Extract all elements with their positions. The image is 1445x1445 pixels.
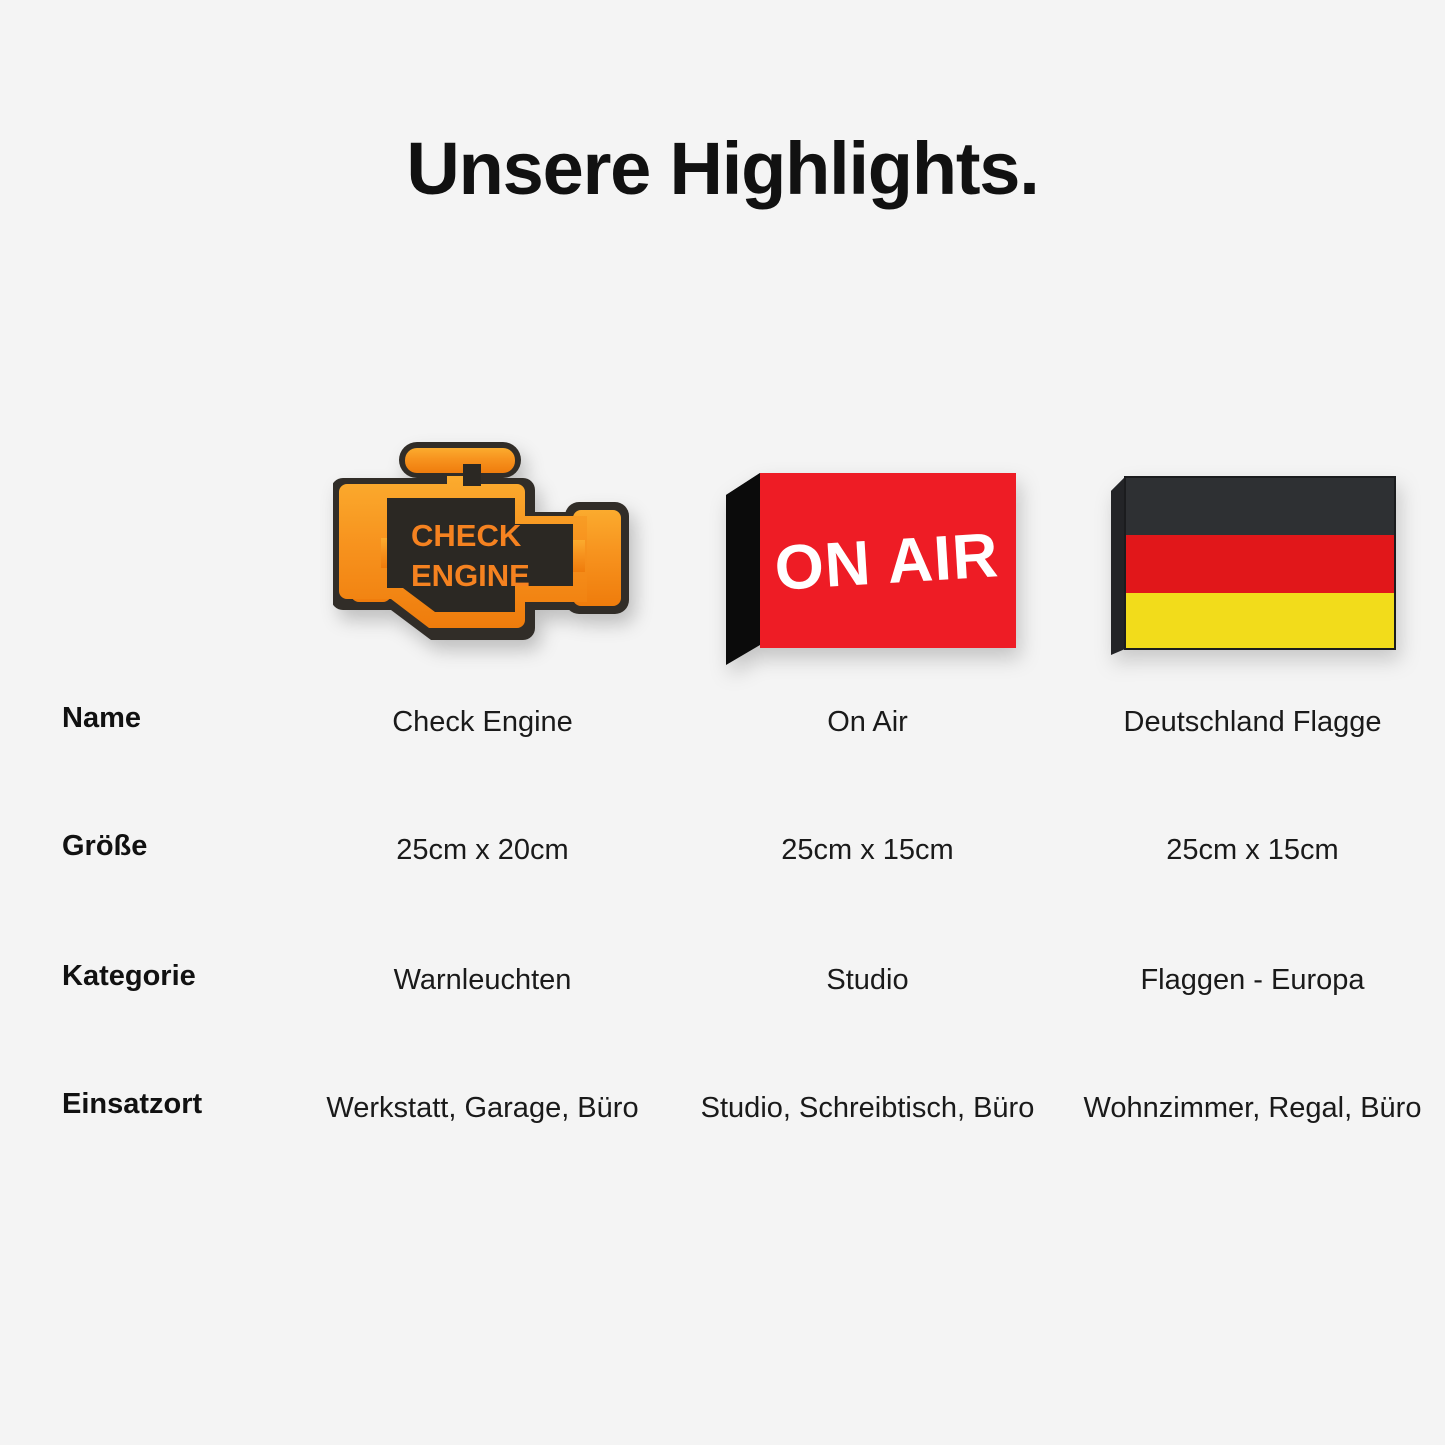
cell-name-check-engine: Check Engine bbox=[290, 700, 675, 828]
page-title: Unsere Highlights. bbox=[0, 128, 1445, 209]
row-label-kategorie: Kategorie bbox=[0, 958, 290, 1086]
flag-band-black bbox=[1125, 477, 1395, 535]
table-row: Einsatzort Werkstatt, Garage, Büro Studi… bbox=[0, 1086, 1445, 1216]
cell-groesse-on-air: 25cm x 15cm bbox=[675, 828, 1060, 958]
product-comparison-table: Name Check Engine On Air Deutschland Fla… bbox=[0, 700, 1445, 1216]
table-row: Name Check Engine On Air Deutschland Fla… bbox=[0, 700, 1445, 828]
cell-einsatzort-on-air: Studio, Schreibtisch, Büro bbox=[675, 1086, 1060, 1216]
check-engine-text-line2: ENGINE bbox=[411, 558, 530, 593]
flag-side-face bbox=[1111, 477, 1125, 655]
cell-name-on-air: On Air bbox=[675, 700, 1060, 828]
highlights-page: Unsere Highlights. bbox=[0, 0, 1445, 1445]
product-image-cell-deutschland-flagge[interactable] bbox=[1060, 408, 1445, 668]
product-image-cell-on-air[interactable]: ON AIR bbox=[675, 408, 1060, 668]
label-column-spacer bbox=[0, 408, 290, 668]
cell-einsatzort-deutschland-flagge: Wohnzimmer, Regal, Büro bbox=[1060, 1086, 1445, 1216]
cell-groesse-check-engine: 25cm x 20cm bbox=[290, 828, 675, 958]
flag-band-red bbox=[1125, 535, 1395, 593]
on-air-side-face bbox=[726, 473, 760, 665]
row-label-einsatzort: Einsatzort bbox=[0, 1086, 290, 1216]
product-image-row: CHECK ENGINE ON AIR bbox=[0, 408, 1445, 668]
row-label-name: Name bbox=[0, 700, 290, 828]
row-label-groesse: Größe bbox=[0, 828, 290, 958]
product-image-cell-check-engine[interactable]: CHECK ENGINE bbox=[290, 408, 675, 668]
on-air-lightbox-image[interactable]: ON AIR bbox=[718, 453, 1018, 668]
flag-band-gold bbox=[1125, 593, 1395, 649]
cell-groesse-deutschland-flagge: 25cm x 15cm bbox=[1060, 828, 1445, 958]
cell-kategorie-deutschland-flagge: Flaggen - Europa bbox=[1060, 958, 1445, 1086]
cell-name-deutschland-flagge: Deutschland Flagge bbox=[1060, 700, 1445, 828]
check-engine-lamp-image[interactable]: CHECK ENGINE bbox=[333, 436, 633, 668]
deutschland-flagge-lightbox-image[interactable] bbox=[1103, 463, 1403, 668]
on-air-text: ON AIR bbox=[772, 520, 1000, 604]
check-engine-text-line1: CHECK bbox=[411, 518, 522, 553]
table-row: Größe 25cm x 20cm 25cm x 15cm 25cm x 15c… bbox=[0, 828, 1445, 958]
flag-front-face bbox=[1125, 477, 1395, 649]
cell-kategorie-on-air: Studio bbox=[675, 958, 1060, 1086]
table-row: Kategorie Warnleuchten Studio Flaggen - … bbox=[0, 958, 1445, 1086]
cell-kategorie-check-engine: Warnleuchten bbox=[290, 958, 675, 1086]
cell-einsatzort-check-engine: Werkstatt, Garage, Büro bbox=[290, 1086, 675, 1216]
